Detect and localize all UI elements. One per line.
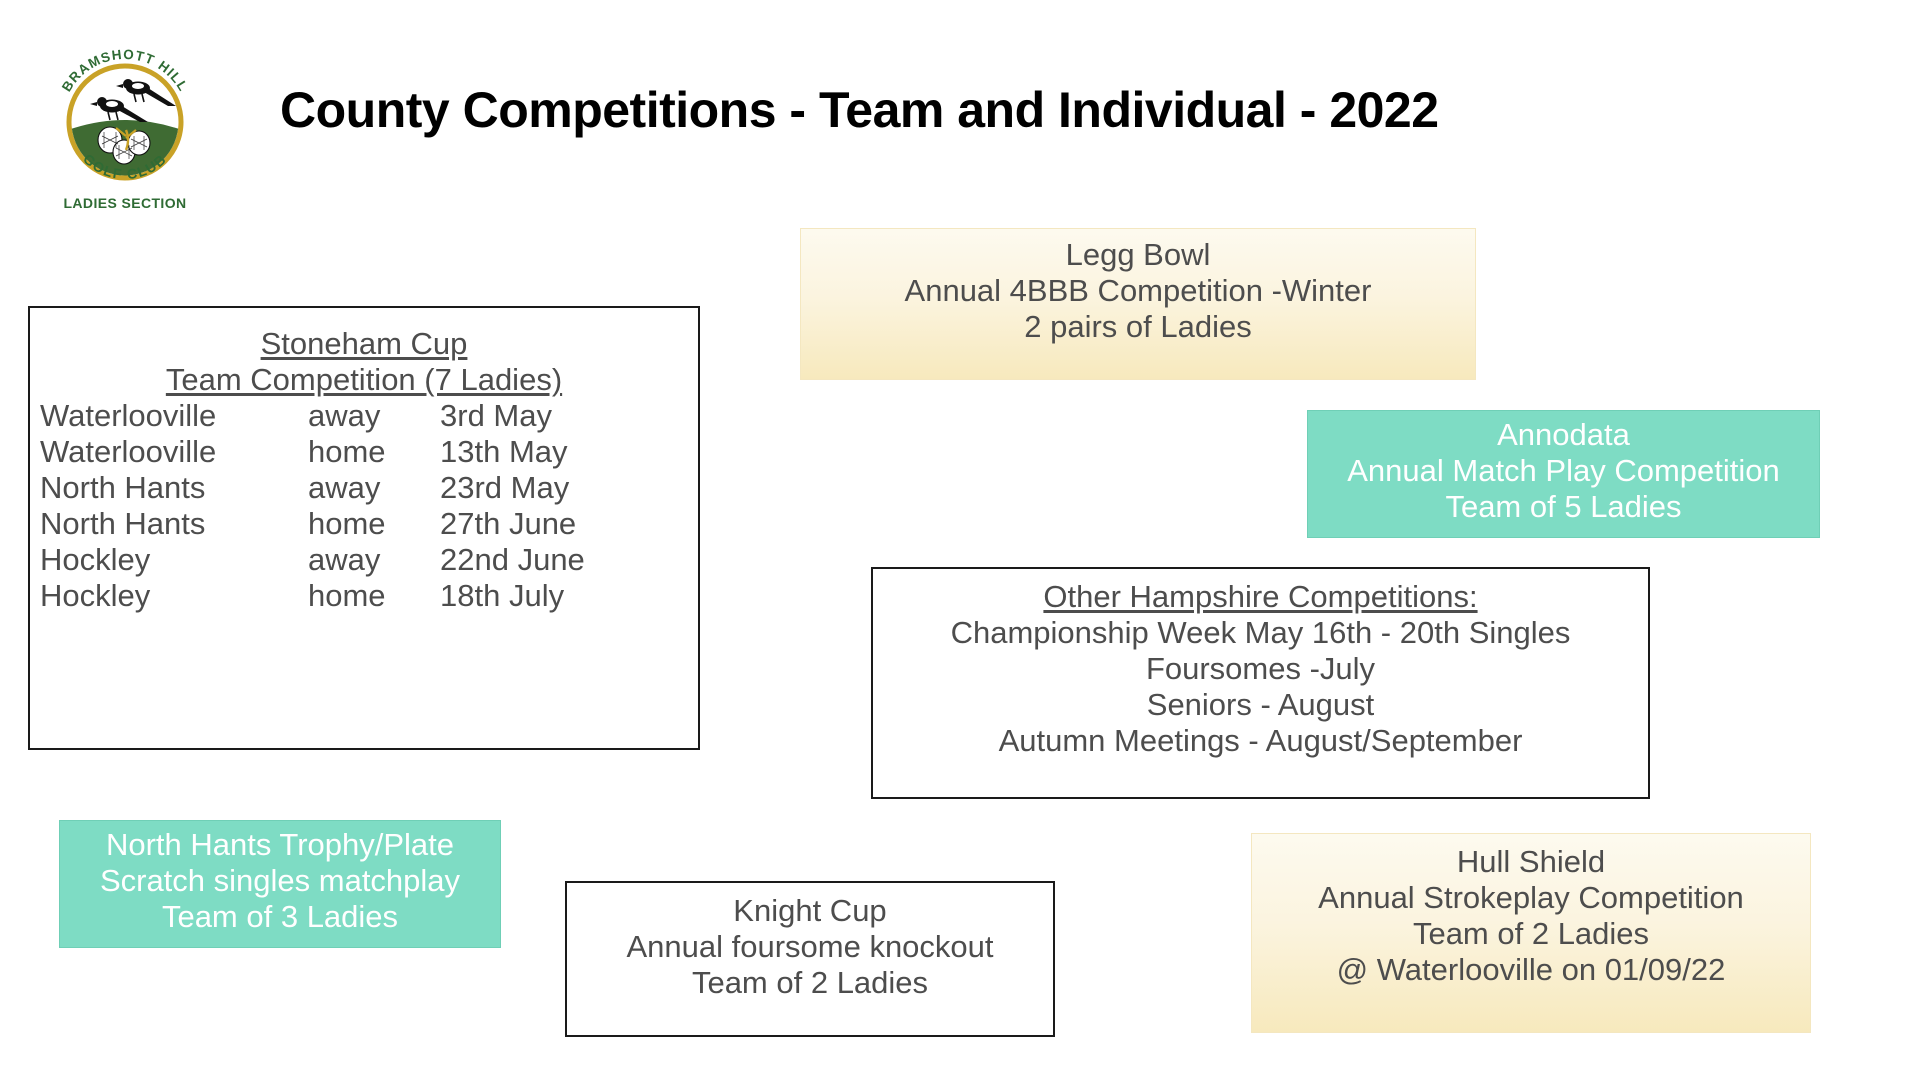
card-annodata: Annodata Annual Match Play Competition T… (1307, 410, 1820, 538)
fixture-venue: away (308, 398, 440, 434)
knight-cup-line-1: Knight Cup (577, 893, 1043, 929)
hull-shield-line-1: Hull Shield (1262, 844, 1800, 880)
fixture-club: Hockley (40, 578, 308, 614)
fixture-date: 27th June (440, 506, 576, 542)
card-other-hampshire-competitions: Other Hampshire Competitions: Championsh… (871, 567, 1650, 799)
fixture-date: 3rd May (440, 398, 552, 434)
card-hull-shield: Hull Shield Annual Strokeplay Competitio… (1251, 833, 1811, 1033)
stoneham-title: Stoneham Cup (40, 326, 688, 362)
fixture-venue: home (308, 506, 440, 542)
card-stoneham-cup: Stoneham Cup Team Competition (7 Ladies)… (28, 306, 700, 750)
fixture-venue: away (308, 470, 440, 506)
table-row: Waterlooville away 3rd May (40, 398, 688, 434)
fixture-date: 22nd June (440, 542, 585, 578)
hampshire-title: Other Hampshire Competitions: (883, 579, 1638, 615)
fixture-club: Waterlooville (40, 398, 308, 434)
fixture-venue: away (308, 542, 440, 578)
fixture-club: North Hants (40, 470, 308, 506)
fixture-date: 13th May (440, 434, 568, 470)
north-hants-line-2: Scratch singles matchplay (70, 863, 490, 899)
fixture-club: Hockley (40, 542, 308, 578)
hampshire-line-1: Championship Week May 16th - 20th Single… (883, 615, 1638, 651)
north-hants-line-1: North Hants Trophy/Plate (70, 827, 490, 863)
table-row: Hockley home 18th July (40, 578, 688, 614)
table-row: Hockley away 22nd June (40, 542, 688, 578)
hull-shield-line-2: Annual Strokeplay Competition (1262, 880, 1800, 916)
annodata-line-1: Annodata (1318, 417, 1809, 453)
logo-sub-text: LADIES SECTION (63, 195, 186, 211)
page-title: County Competitions - Team and Individua… (280, 84, 1580, 137)
card-north-hants-trophy-plate: North Hants Trophy/Plate Scratch singles… (59, 820, 501, 948)
hampshire-line-3: Seniors - August (883, 687, 1638, 723)
fixture-club: North Hants (40, 506, 308, 542)
annodata-line-2: Annual Match Play Competition (1318, 453, 1809, 489)
table-row: Waterlooville home 13th May (40, 434, 688, 470)
fixture-club: Waterlooville (40, 434, 308, 470)
hull-shield-line-4: @ Waterlooville on 01/09/22 (1262, 952, 1800, 988)
hampshire-line-4: Autumn Meetings - August/September (883, 723, 1638, 759)
legg-bowl-line-3: 2 pairs of Ladies (815, 309, 1461, 345)
fixture-date: 23rd May (440, 470, 569, 506)
hull-shield-line-3: Team of 2 Ladies (1262, 916, 1800, 952)
knight-cup-line-2: Annual foursome knockout (577, 929, 1043, 965)
table-row: North Hants home 27th June (40, 506, 688, 542)
north-hants-line-3: Team of 3 Ladies (70, 899, 490, 935)
hampshire-line-2: Foursomes -July (883, 651, 1638, 687)
annodata-line-3: Team of 5 Ladies (1318, 489, 1809, 525)
card-knight-cup: Knight Cup Annual foursome knockout Team… (565, 881, 1055, 1037)
knight-cup-line-3: Team of 2 Ladies (577, 965, 1043, 1001)
stoneham-subtitle: Team Competition (7 Ladies) (40, 362, 688, 398)
card-legg-bowl: Legg Bowl Annual 4BBB Competition -Winte… (800, 228, 1476, 380)
fixture-date: 18th July (440, 578, 564, 614)
club-logo: BRAMSHOTT HILL GOLF CLUB LADIES SECTION (40, 18, 210, 218)
table-row: North Hants away 23rd May (40, 470, 688, 506)
fixture-venue: home (308, 434, 440, 470)
legg-bowl-line-2: Annual 4BBB Competition -Winter (815, 273, 1461, 309)
fixture-venue: home (308, 578, 440, 614)
legg-bowl-line-1: Legg Bowl (815, 237, 1461, 273)
